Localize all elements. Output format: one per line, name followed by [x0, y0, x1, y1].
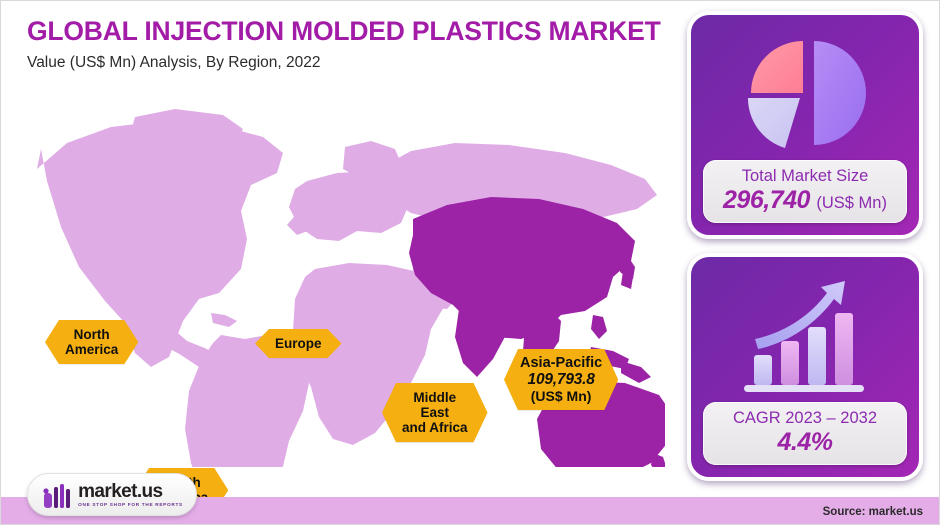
region-label-line1: Europe: [275, 336, 322, 351]
region-tag-north-america[interactable]: North America: [45, 320, 138, 364]
region-tag-asia-pacific[interactable]: Asia-Pacific 109,793.8 (US$ Mn): [504, 349, 618, 410]
region-label-line1: North: [65, 327, 118, 342]
pie-chart-icon: [691, 25, 919, 165]
region-label-line1: Middle: [402, 390, 468, 405]
region-label-line2: East: [402, 405, 468, 420]
region-value-unit: (US$ Mn): [520, 389, 602, 405]
world-map-svg: [15, 99, 665, 467]
region-value: 109,793.8: [520, 371, 602, 388]
growth-bar-chart-icon: [691, 267, 919, 407]
stat-label: Total Market Size: [709, 167, 901, 185]
stat-value-wrap: 296,740 (US$ Mn): [709, 187, 901, 215]
region-tag-middle-east-and-africa[interactable]: Middle East and Africa: [382, 383, 488, 442]
logo-mark-icon: [41, 482, 71, 508]
logo-wordmark: market.us: [78, 482, 183, 501]
region-label-line3: and Africa: [402, 420, 468, 435]
logo-text: market.us ONE STOP SHOP FOR THE REPORTS: [78, 482, 183, 508]
stat-card-cagr[interactable]: CAGR 2023 – 2032 4.4%: [687, 253, 923, 481]
region-label-line2: America: [65, 342, 118, 357]
stat-value: 296,740: [723, 186, 810, 214]
region-tag-europe[interactable]: Europe: [255, 329, 342, 358]
page-title: GLOBAL INJECTION MOLDED PLASTICS MARKET: [27, 17, 667, 47]
stat-value-wrap: 4.4%: [709, 429, 901, 457]
market-us-logo[interactable]: market.us ONE STOP SHOP FOR THE REPORTS: [27, 473, 197, 516]
stat-label: CAGR 2023 – 2032: [709, 409, 901, 427]
stat-card-plate: Total Market Size 296,740 (US$ Mn): [703, 160, 907, 223]
stat-card-total-market-size[interactable]: Total Market Size 296,740 (US$ Mn): [687, 11, 923, 239]
stat-card-plate: CAGR 2023 – 2032 4.4%: [703, 402, 907, 465]
infographic-root: GLOBAL INJECTION MOLDED PLASTICS MARKET …: [0, 0, 940, 525]
page-subtitle: Value (US$ Mn) Analysis, By Region, 2022: [27, 54, 667, 73]
region-label-line1: Asia-Pacific: [520, 355, 602, 371]
stat-unit: (US$ Mn): [816, 194, 887, 212]
stat-value: 4.4%: [778, 428, 833, 456]
world-map: North America South America Europe Middl…: [1, 93, 677, 473]
source-note: Source: market.us: [823, 506, 923, 518]
stat-cards: Total Market Size 296,740 (US$ Mn): [687, 11, 927, 495]
header: GLOBAL INJECTION MOLDED PLASTICS MARKET …: [27, 17, 667, 72]
logo-tagline: ONE STOP SHOP FOR THE REPORTS: [78, 503, 183, 508]
